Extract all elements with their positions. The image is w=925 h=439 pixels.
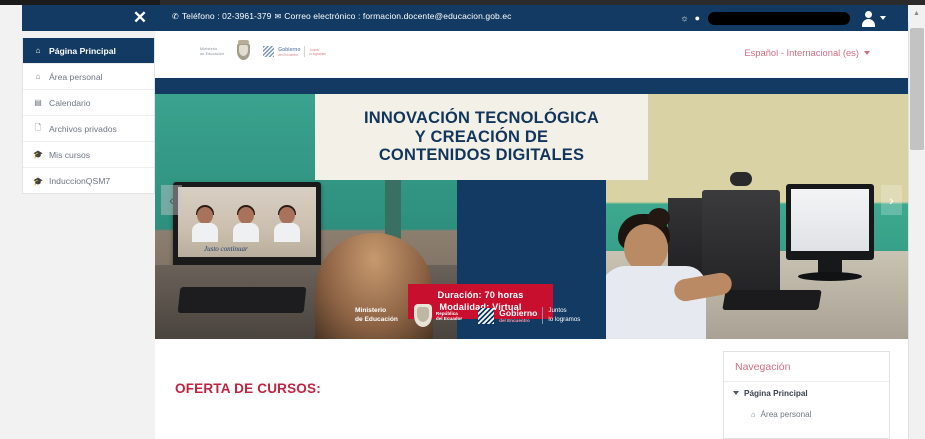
photo-right-student bbox=[606, 218, 726, 339]
photo-left-child bbox=[190, 207, 220, 241]
dashboard-icon: ⌂ bbox=[33, 72, 43, 81]
banner-ministry-logo: Ministerio de Educación bbox=[355, 307, 398, 324]
photo-left-child bbox=[231, 207, 261, 241]
banner-slogan-line1: Juntos bbox=[548, 307, 580, 315]
notification-bell-icon[interactable]: ☼ bbox=[680, 14, 688, 23]
gobierno-mark-icon bbox=[263, 46, 274, 57]
logo-divider bbox=[304, 46, 305, 57]
lower-section: OFERTA DE CURSOS: Navegación Página Prin… bbox=[155, 339, 908, 439]
site-header: Ministerio de Educación Gobierno del Enc… bbox=[155, 31, 908, 78]
carousel-prev-button[interactable]: ‹ bbox=[161, 185, 182, 215]
banner-shield-group: República del Ecuador bbox=[414, 304, 462, 327]
gobierno-wordmark: Gobierno del Encuentro bbox=[278, 47, 300, 57]
photo-right-monitor-base bbox=[798, 272, 862, 281]
sidebar-item-mis-cursos[interactable]: 🎓 Mis cursos bbox=[23, 142, 154, 168]
carousel-next-button[interactable]: › bbox=[881, 185, 902, 215]
gobierno-logo: Gobierno del Encuentro Juntos lo logramo… bbox=[263, 46, 326, 57]
banner-ministry-line1: Ministerio bbox=[355, 307, 398, 316]
logo-divider bbox=[542, 307, 543, 324]
gobierno-mark-icon bbox=[478, 308, 494, 324]
banner-gobierno-sub: del Encuentro bbox=[499, 318, 537, 323]
sidebar-item-label: Mis cursos bbox=[49, 150, 90, 160]
sidebar-item-calendario[interactable]: ▤ Calendario bbox=[23, 90, 154, 116]
carousel-photo-right bbox=[606, 94, 908, 339]
navigation-block: Navegación Página Principal ⌂ Área perso… bbox=[723, 351, 890, 439]
scrollbar-up-button[interactable]: ▲ bbox=[908, 5, 925, 22]
banner-gobierno-wordmark: Gobierno del Encuentro bbox=[499, 308, 537, 323]
photo-left-keyboard bbox=[178, 287, 307, 313]
photo-left-child bbox=[272, 207, 302, 241]
graduation-cap-icon: 🎓 bbox=[33, 150, 43, 159]
banner-shield-text: República del Ecuador bbox=[436, 311, 462, 321]
child-body bbox=[233, 223, 259, 242]
nav-item-label: Página Principal bbox=[744, 389, 808, 398]
navigation-block-title: Navegación bbox=[724, 352, 889, 382]
gobierno-word: Gobierno bbox=[278, 47, 300, 53]
child-head bbox=[197, 207, 213, 224]
hero-carousel: Justo continuar bbox=[155, 78, 908, 339]
headline-line-3: CONTENIDOS DIGITALES bbox=[379, 146, 584, 165]
language-selector[interactable]: Español - Internacional (es) bbox=[744, 47, 870, 58]
sidebar-item-label: Área personal bbox=[49, 72, 103, 82]
ecuador-shield-icon bbox=[237, 43, 250, 60]
photo-left-screen: Justo continuar bbox=[178, 187, 316, 257]
page-scrollbar-thumb[interactable] bbox=[910, 28, 924, 150]
gobierno-sub: del Encuentro bbox=[278, 53, 300, 57]
ministry-logo: Ministerio de Educación bbox=[200, 47, 224, 56]
banner-slogan: Juntos lo logramos bbox=[548, 307, 580, 324]
email-label: Correo electrónico : formacion.docente@e… bbox=[284, 11, 511, 21]
username-redacted bbox=[708, 12, 850, 25]
messages-icon[interactable]: ● bbox=[695, 14, 700, 23]
banner-slogan-line2: lo logramos bbox=[548, 316, 580, 324]
main-content: Ministerio de Educación Gobierno del Enc… bbox=[155, 31, 908, 439]
user-avatar-button[interactable] bbox=[860, 10, 886, 27]
avatar-body bbox=[862, 19, 875, 27]
child-body bbox=[192, 223, 218, 242]
avatar-head bbox=[865, 11, 872, 18]
nav-item-pagina-principal[interactable]: Página Principal bbox=[724, 382, 889, 404]
sidebar-item-label: InduccionQSM7 bbox=[49, 176, 110, 186]
banner-gobierno-word: Gobierno bbox=[499, 308, 537, 318]
photo-right-webcam bbox=[730, 172, 752, 186]
banner-shield-line2: del Ecuador bbox=[436, 316, 462, 321]
gobierno-slogan: Juntos lo logramos bbox=[309, 48, 325, 56]
top-contact-bar: ✕ ✆ Teléfono : 02-3961-379 ✉ Correo elec… bbox=[22, 5, 908, 31]
sidebar-item-pagina-principal[interactable]: ⌂ Página Principal bbox=[23, 38, 154, 64]
photo-right-keyboard bbox=[722, 290, 822, 310]
banner-headline-card: INNOVACIÓN TECNOLÓGICA Y CREACIÓN DE CON… bbox=[315, 94, 648, 180]
header-logos: Ministerio de Educación Gobierno del Enc… bbox=[200, 43, 326, 60]
photo-left-caption: Justo continuar bbox=[204, 245, 248, 253]
headline-line-1: INNOVACIÓN TECNOLÓGICA bbox=[364, 109, 599, 128]
banner-ministry-line2: de Educación bbox=[355, 316, 398, 325]
sidebar-item-area-personal[interactable]: ⌂ Área personal bbox=[23, 64, 154, 90]
duration-line: Duración: 70 horas bbox=[438, 290, 524, 302]
nav-item-label: Área personal bbox=[761, 410, 812, 419]
photo-right-monitor bbox=[786, 184, 874, 260]
sidebar-item-label: Página Principal bbox=[49, 46, 116, 56]
banner-footer-logos: Ministerio de Educación República del Ec… bbox=[355, 304, 580, 327]
dashboard-icon: ⌂ bbox=[751, 410, 756, 419]
nav-item-area-personal[interactable]: ⌂ Área personal bbox=[724, 404, 889, 424]
file-icon: 🗋 bbox=[33, 122, 43, 136]
ministry-logo-line2: de Educación bbox=[200, 52, 224, 56]
sidebar-item-induccionqsm7[interactable]: 🎓 InduccionQSM7 bbox=[23, 168, 154, 194]
chevron-down-icon bbox=[864, 51, 870, 55]
avatar bbox=[860, 10, 877, 27]
sidebar-item-archivos-privados[interactable]: 🗋 Archivos privados bbox=[23, 116, 154, 142]
ecuador-shield-icon bbox=[414, 304, 432, 327]
chevron-down-icon[interactable] bbox=[733, 391, 739, 395]
child-head bbox=[279, 207, 295, 224]
headline-line-2: Y CREACIÓN DE bbox=[415, 128, 548, 147]
sidebar-item-label: Calendario bbox=[49, 98, 91, 108]
home-icon: ⌂ bbox=[33, 46, 43, 55]
contact-info: ✆ Teléfono : 02-3961-379 ✉ Correo electr… bbox=[172, 11, 512, 21]
close-icon[interactable]: ✕ bbox=[130, 8, 150, 28]
sidebar-drawer: ⌂ Página Principal ⌂ Área personal ▤ Cal… bbox=[22, 38, 155, 194]
user-menu-area: ☼ ● bbox=[680, 5, 886, 31]
photo-left-monitor: Justo continuar bbox=[173, 182, 321, 268]
mail-icon: ✉ bbox=[274, 12, 281, 21]
browser-viewport: ✕ ✆ Teléfono : 02-3961-379 ✉ Correo elec… bbox=[0, 5, 908, 439]
shield-cap bbox=[238, 40, 249, 44]
banner-gobierno-logo: Gobierno del Encuentro Juntos lo logramo… bbox=[478, 307, 580, 324]
page-scrollbar-track[interactable] bbox=[908, 5, 925, 439]
student-head bbox=[624, 224, 668, 272]
language-label: Español - Internacional (es) bbox=[744, 47, 859, 58]
child-body bbox=[274, 223, 300, 242]
photo-right-monitor-screen bbox=[791, 189, 869, 251]
child-head bbox=[238, 207, 254, 224]
sidebar-item-label: Archivos privados bbox=[49, 124, 117, 134]
gobierno-slogan-line2: lo logramos bbox=[309, 52, 325, 56]
graduation-cap-icon: 🎓 bbox=[33, 177, 43, 186]
offer-heading: OFERTA DE CURSOS: bbox=[175, 381, 321, 396]
chevron-down-icon[interactable] bbox=[880, 16, 886, 20]
screenshot-root: ✕ ✆ Teléfono : 02-3961-379 ✉ Correo elec… bbox=[0, 0, 925, 439]
calendar-icon: ▤ bbox=[33, 98, 43, 107]
phone-icon: ✆ bbox=[172, 12, 179, 21]
phone-label: Teléfono : 02-3961-379 bbox=[182, 11, 272, 21]
